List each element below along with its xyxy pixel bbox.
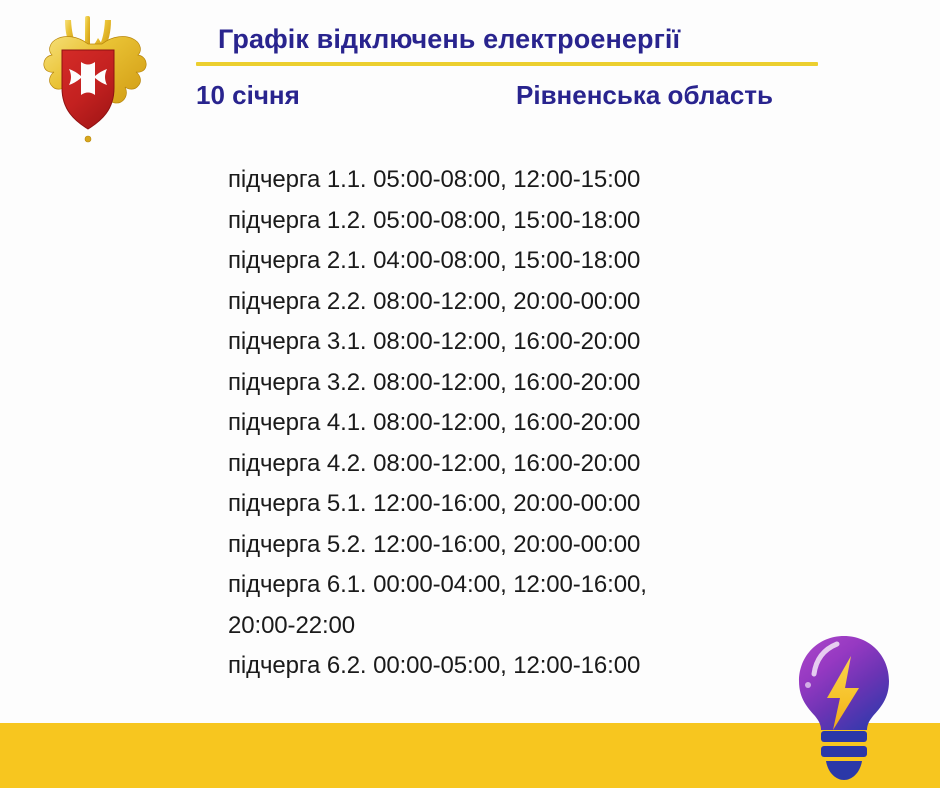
schedule-line: підчерга 1.1. 05:00-08:00, 12:00-15:00 [228, 160, 768, 201]
rivne-oblast-coat-of-arms-icon [24, 8, 152, 158]
light-bulb-icon [780, 630, 908, 788]
title-underline-rule [196, 62, 818, 66]
schedule-line: підчерга 4.1. 08:00-12:00, 16:00-20:00 [228, 403, 768, 444]
schedule-line: підчерга 6.1. 00:00-04:00, 12:00-16:00, [228, 565, 768, 606]
outage-schedule-poster: Графік відключень електроенергії 10 січн… [0, 0, 940, 788]
schedule-line: підчерга 3.2. 08:00-12:00, 16:00-20:00 [228, 363, 768, 404]
schedule-region: Рівненська область [516, 80, 773, 111]
schedule-line-continuation: 20:00-22:00 [228, 606, 768, 647]
subheader-row: 10 січня Рівненська область [196, 80, 896, 120]
schedule-list: підчерга 1.1. 05:00-08:00, 12:00-15:00 п… [228, 160, 768, 687]
schedule-line: підчерга 5.2. 12:00-16:00, 20:00-00:00 [228, 525, 768, 566]
schedule-line: підчерга 2.2. 08:00-12:00, 20:00-00:00 [228, 282, 768, 323]
schedule-date: 10 січня [196, 80, 300, 111]
page-title: Графік відключень електроенергії [218, 22, 896, 56]
schedule-line: підчерга 6.2. 00:00-05:00, 12:00-16:00 [228, 646, 768, 687]
poster-header: Графік відключень електроенергії 10 січн… [196, 22, 896, 120]
schedule-line: підчерга 3.1. 08:00-12:00, 16:00-20:00 [228, 322, 768, 363]
schedule-line: підчерга 4.2. 08:00-12:00, 16:00-20:00 [228, 444, 768, 485]
schedule-line: підчерга 5.1. 12:00-16:00, 20:00-00:00 [228, 484, 768, 525]
bulb-highlight-dot [805, 682, 811, 688]
schedule-line: підчерга 1.2. 05:00-08:00, 15:00-18:00 [228, 201, 768, 242]
schedule-line: підчерга 2.1. 04:00-08:00, 15:00-18:00 [228, 241, 768, 282]
bulb-base [821, 731, 867, 780]
